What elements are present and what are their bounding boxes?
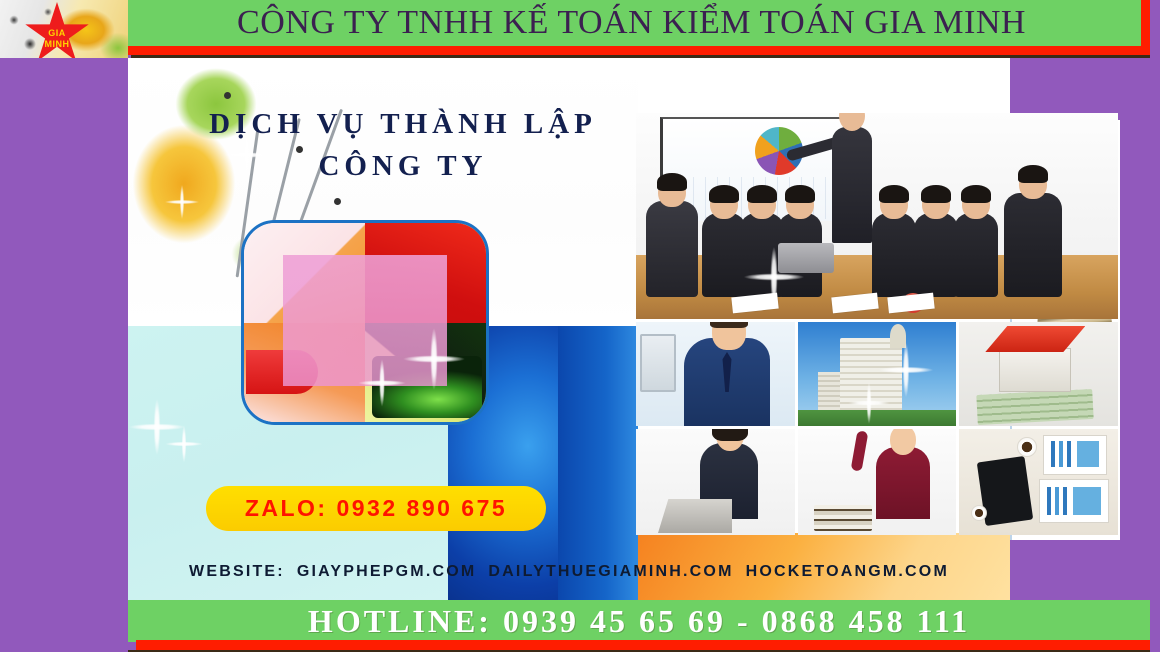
photo-grid-row-3 <box>636 429 1118 535</box>
attendee-8 <box>1004 193 1062 297</box>
logo-background-photo: GIA MINH <box>0 0 128 58</box>
attendee-5 <box>872 213 916 297</box>
logo-text-line1: GIA <box>48 28 66 38</box>
red-star-icon: GIA MINH <box>24 2 90 58</box>
necktie <box>723 352 732 392</box>
laptop-on-table <box>778 243 834 273</box>
photo-office-building <box>798 322 957 426</box>
bar-chart-graphic-1 <box>1051 441 1099 467</box>
presenter-figure <box>832 127 872 243</box>
photo-grid <box>636 113 1118 537</box>
zalo-contact-button[interactable]: ZALO: 0932 890 675 <box>206 486 546 531</box>
photo-house-on-money <box>959 322 1118 426</box>
collage-emblem <box>241 220 489 425</box>
right-edge-background <box>1150 0 1160 652</box>
woman-figure <box>876 447 930 519</box>
page-title: DỊCH VỤ THÀNH LẬP CÔNG TY <box>168 103 638 187</box>
attendee-7 <box>954 213 998 297</box>
website-link-3[interactable]: HOCKETOANGM.COM <box>746 563 949 580</box>
zalo-label: ZALO: 0932 890 675 <box>245 495 507 522</box>
money-stack <box>977 389 1094 425</box>
coffee-cup-1 <box>1017 437 1037 457</box>
raised-arm <box>850 430 868 471</box>
monitor-icon <box>640 334 676 392</box>
hotline-bar: HOTLINE: 0939 45 65 69 - 0868 458 111 <box>128 600 1150 642</box>
building-landscape <box>798 410 957 426</box>
hotline-red-accent <box>136 640 1150 650</box>
hotline-text: HOTLINE: 0939 45 65 69 - 0868 458 111 <box>308 603 970 640</box>
attendee-1 <box>646 201 698 297</box>
photo-desk-topdown <box>959 429 1118 535</box>
laptop-device <box>658 499 732 533</box>
photo-businessman-desk <box>636 322 795 426</box>
company-title: CÔNG TY TNHH KẾ TOÁN KIỂM TOÁN GIA MINH <box>237 4 1026 42</box>
emblem-center-overlay <box>283 255 448 386</box>
photo-business-meeting <box>636 113 1118 319</box>
bar-chart-graphic-2 <box>1047 487 1101 515</box>
header-bar: CÔNG TY TNHH KẾ TOÁN KIỂM TOÁN GIA MINH <box>128 0 1150 55</box>
headline-line-2: CÔNG TY <box>168 145 638 187</box>
headline-line-1: DỊCH VỤ THÀNH LẬP <box>209 108 597 140</box>
website-link-2[interactable]: DAILYTHUEGIAMINH.COM <box>488 563 733 580</box>
poster-canvas: GIA MINH CÔNG TY TNHH KẾ TOÁN KIỂM TOÁN … <box>0 0 1160 652</box>
decor-dot-3 <box>334 198 341 205</box>
photo-grid-row-2 <box>636 322 1118 426</box>
website-line: WEBSITE:GIAYPHEPGM.COMDAILYTHUEGIAMINH.C… <box>128 563 1010 581</box>
attendee-6 <box>914 213 958 297</box>
main-building <box>840 338 902 416</box>
house-body <box>999 348 1071 392</box>
building-spire <box>890 324 906 348</box>
businessman-figure <box>684 338 770 426</box>
decorative-blue-strip <box>558 326 638 603</box>
photo-woman-with-books <box>798 429 957 535</box>
website-label: WEBSITE: <box>189 563 285 580</box>
emblem-frame <box>241 220 489 425</box>
decor-dot-1 <box>224 92 231 99</box>
book-stack <box>814 505 872 531</box>
logo-text-line2: MINH <box>45 39 70 49</box>
photo-businesswoman-laptop <box>636 429 795 535</box>
website-link-1[interactable]: GIAYPHEPGM.COM <box>297 563 477 580</box>
